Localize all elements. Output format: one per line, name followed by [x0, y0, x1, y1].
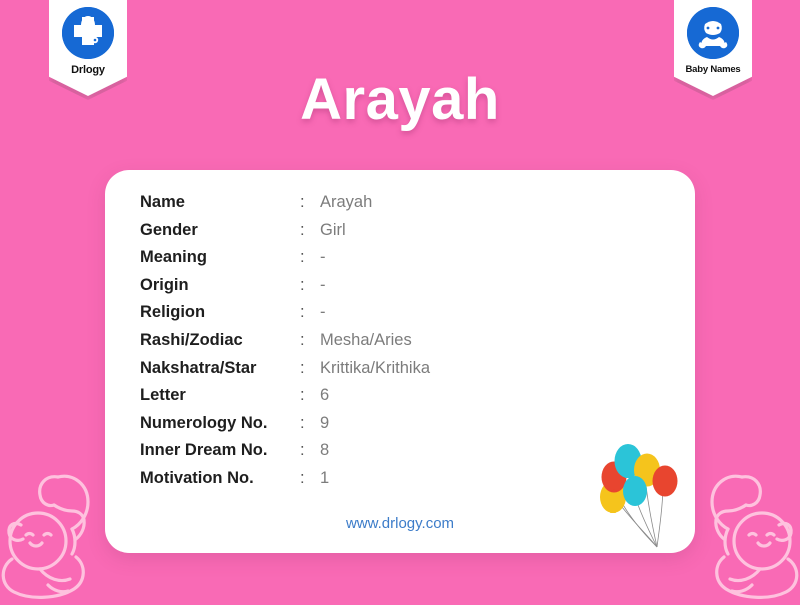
table-row: Rashi/Zodiac : Mesha/Aries	[140, 331, 430, 359]
row-separator: :	[300, 221, 320, 240]
table-row: Inner Dream No. : 8	[140, 441, 430, 469]
table-row: Nakshatra/Star : Krittika/Krithika	[140, 359, 430, 387]
row-value: 1	[320, 469, 329, 488]
row-separator: :	[300, 193, 320, 212]
name-info-card: Name : Arayah Gender : Girl Meaning : - …	[105, 170, 695, 553]
row-value: -	[320, 303, 326, 322]
row-label: Name	[140, 193, 300, 212]
row-value: Mesha/Aries	[320, 331, 412, 350]
row-value: 6	[320, 386, 329, 405]
baby-icon	[687, 7, 739, 59]
row-label: Numerology No.	[140, 414, 300, 433]
row-value: 9	[320, 414, 329, 433]
table-row: Origin : -	[140, 276, 430, 304]
row-separator: :	[300, 469, 320, 488]
row-separator: :	[300, 303, 320, 322]
table-row: Name : Arayah	[140, 193, 430, 221]
row-label: Letter	[140, 386, 300, 405]
row-separator: :	[300, 386, 320, 405]
website-url[interactable]: www.drlogy.com	[105, 515, 695, 532]
row-label: Origin	[140, 276, 300, 295]
page-title: Arayah	[0, 66, 800, 133]
table-row: Letter : 6	[140, 386, 430, 414]
row-label: Motivation No.	[140, 469, 300, 488]
row-value: 8	[320, 441, 329, 460]
row-label: Inner Dream No.	[140, 441, 300, 460]
row-separator: :	[300, 331, 320, 350]
table-row: Religion : -	[140, 303, 430, 331]
row-separator: :	[300, 414, 320, 433]
row-separator: :	[300, 359, 320, 378]
row-value: Krittika/Krithika	[320, 359, 430, 378]
mother-and-baby-outline-right	[682, 455, 800, 600]
table-row: Motivation No. : 1	[140, 469, 430, 497]
balloons-illustration	[597, 441, 689, 553]
row-value: -	[320, 276, 326, 295]
row-value: Arayah	[320, 193, 372, 212]
table-row: Gender : Girl	[140, 221, 430, 249]
row-label: Meaning	[140, 248, 300, 267]
row-value: Girl	[320, 221, 346, 240]
row-label: Rashi/Zodiac	[140, 331, 300, 350]
drlogy-medical-cross-doctor-icon	[62, 7, 114, 59]
row-separator: :	[300, 276, 320, 295]
row-value: -	[320, 248, 326, 267]
row-label: Gender	[140, 221, 300, 240]
row-label: Religion	[140, 303, 300, 322]
row-separator: :	[300, 441, 320, 460]
mother-and-baby-outline-left	[0, 455, 118, 600]
table-row: Meaning : -	[140, 248, 430, 276]
table-row: Numerology No. : 9	[140, 414, 430, 442]
name-detail-list: Name : Arayah Gender : Girl Meaning : - …	[140, 193, 430, 497]
row-label: Nakshatra/Star	[140, 359, 300, 378]
row-separator: :	[300, 248, 320, 267]
